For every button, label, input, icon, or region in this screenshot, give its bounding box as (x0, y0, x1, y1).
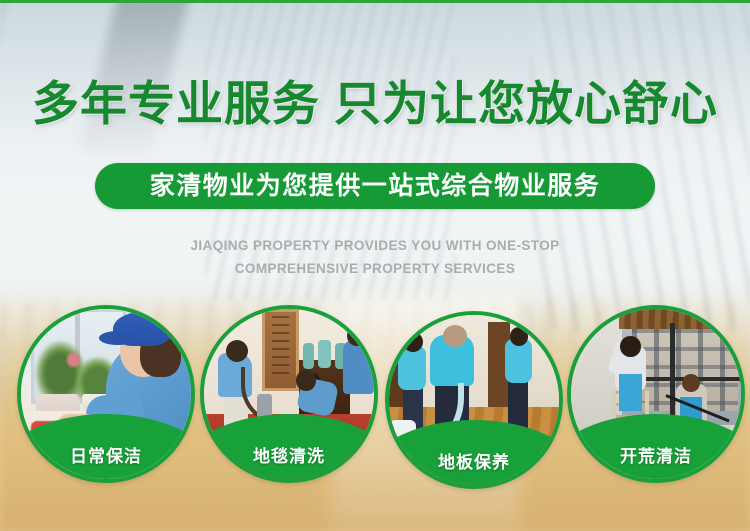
service-card-daily-cleaning[interactable]: 日常保洁 (17, 305, 195, 483)
service-label-carpet-cleaning: 地毯清洗 (204, 448, 374, 465)
service-label-floor-maintenance: 地板保养 (389, 454, 559, 471)
service-label-daily-cleaning: 日常保洁 (21, 448, 191, 465)
service-card-post-construction-cleaning[interactable]: 开荒清洁 (567, 305, 745, 483)
service-circle-group: 日常保洁 地毯清洗 (0, 0, 750, 531)
service-card-floor-maintenance[interactable]: 地板保养 (385, 311, 563, 489)
service-card-carpet-cleaning[interactable]: 地毯清洗 (200, 305, 378, 483)
promo-banner: 多年专业服务 只为让您放心舒心 家清物业为您提供一站式综合物业服务 JIAQIN… (0, 0, 750, 531)
service-label-post-construction-cleaning: 开荒清洁 (571, 448, 741, 465)
